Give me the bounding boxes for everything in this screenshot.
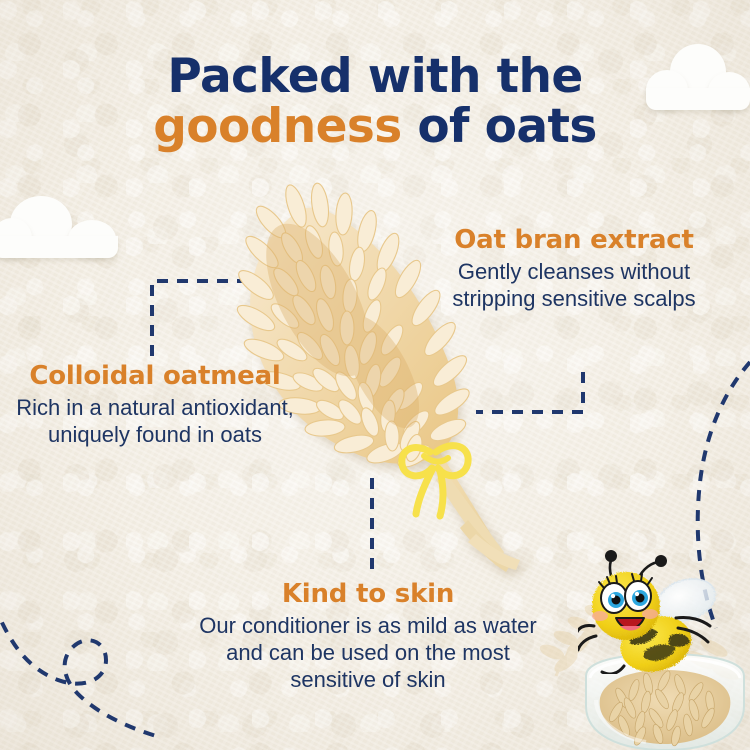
headline-line-2: goodness of oats xyxy=(0,102,750,152)
callout-body: Our conditioner is as mild as water and … xyxy=(190,613,546,693)
bee-flight-path-bottom-left xyxy=(0,604,156,736)
callout-kind-to-skin: Kind to skin Our conditioner is as mild … xyxy=(190,580,546,694)
callout-body: Gently cleanses without stripping sensit… xyxy=(424,259,724,313)
connector-oat-bran xyxy=(476,372,583,412)
callout-title: Colloidal oatmeal xyxy=(10,362,300,391)
callout-title: Oat bran extract xyxy=(424,226,724,255)
callout-title: Kind to skin xyxy=(190,580,546,609)
connector-colloidal xyxy=(152,281,246,356)
cloud-puff xyxy=(10,196,72,252)
callout-body: Rich in a natural antioxidant, uniquely … xyxy=(10,395,300,449)
wheat-stems xyxy=(425,449,520,572)
cloud-base xyxy=(0,236,118,258)
yellow-ribbon-bow xyxy=(402,446,468,516)
headline-line-2-rest: of oats xyxy=(402,99,597,154)
page-title: Packed with the goodness of oats xyxy=(0,52,750,152)
cartoon-bee-character xyxy=(578,548,746,674)
poster-canvas: Packed with the goodness of oats Oat bra… xyxy=(0,0,750,750)
callout-oat-bran-extract: Oat bran extract Gently cleanses without… xyxy=(424,226,724,313)
antenna-tip xyxy=(605,550,617,562)
headline-accent-word: goodness xyxy=(153,99,401,154)
cloud-puff xyxy=(68,220,116,258)
callout-colloidal-oatmeal: Colloidal oatmeal Rich in a natural anti… xyxy=(10,362,300,449)
cloud-left-icon xyxy=(0,196,120,258)
bee-cheek xyxy=(592,611,608,621)
antenna-tip xyxy=(655,555,667,567)
cloud-puff xyxy=(0,218,32,258)
headline-line-1: Packed with the xyxy=(0,52,750,102)
